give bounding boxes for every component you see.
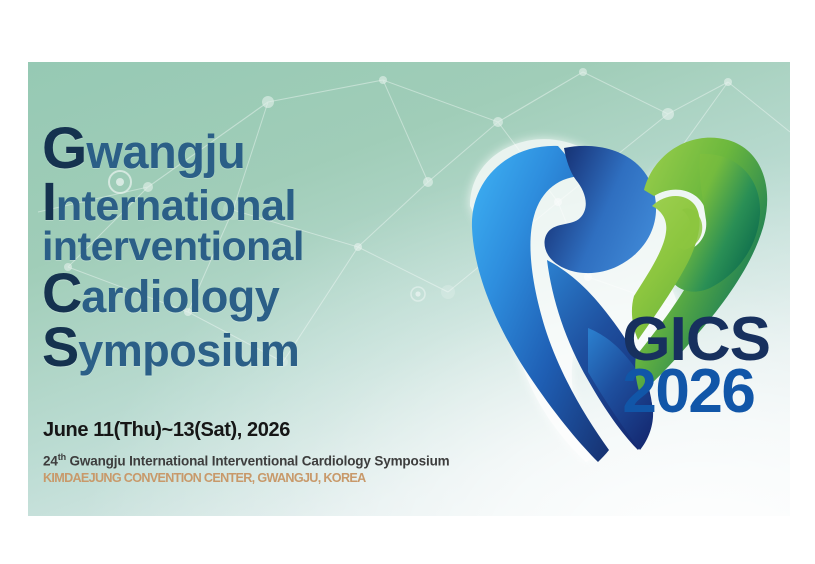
logo-year: 2026 — [622, 366, 770, 418]
edition-number: 24 — [43, 454, 58, 469]
title-rest-symposium: ymposium — [78, 325, 299, 376]
logo-wordmark: GICS 2026 — [622, 314, 770, 418]
title-line-cardiology: Cardiology — [42, 267, 442, 318]
title-rest-cardiology: ardiology — [81, 271, 279, 322]
title-line-gwangju: Gwangju — [42, 122, 442, 176]
conference-banner: Gwangju International interventional Car… — [28, 62, 790, 516]
title-rest-interventional: nterventional — [53, 223, 304, 269]
title-initial-s: S — [42, 315, 78, 378]
event-edition: 24th Gwangju International Interventiona… — [43, 452, 450, 469]
heart-ribbon-logo: GICS 2026 — [448, 110, 778, 470]
title-line-symposium: Symposium — [42, 321, 442, 372]
title-initial-g: G — [42, 116, 86, 181]
title-line-interventional: interventional — [42, 228, 442, 266]
poster-canvas: Gwangju International interventional Car… — [0, 0, 815, 564]
edition-full-name: Gwangju International Interventional Car… — [66, 454, 450, 469]
edition-ordinal-suffix: th — [58, 452, 66, 462]
event-date: June 11(Thu)~13(Sat), 2026 — [43, 419, 290, 442]
conference-title: Gwangju International interventional Car… — [42, 122, 442, 372]
title-line-international: International — [42, 178, 442, 227]
event-venue: KIMDAEJUNG CONVENTION CENTER, GWANGJU, K… — [43, 470, 366, 485]
title-rest-gwangju: wangju — [86, 125, 245, 178]
